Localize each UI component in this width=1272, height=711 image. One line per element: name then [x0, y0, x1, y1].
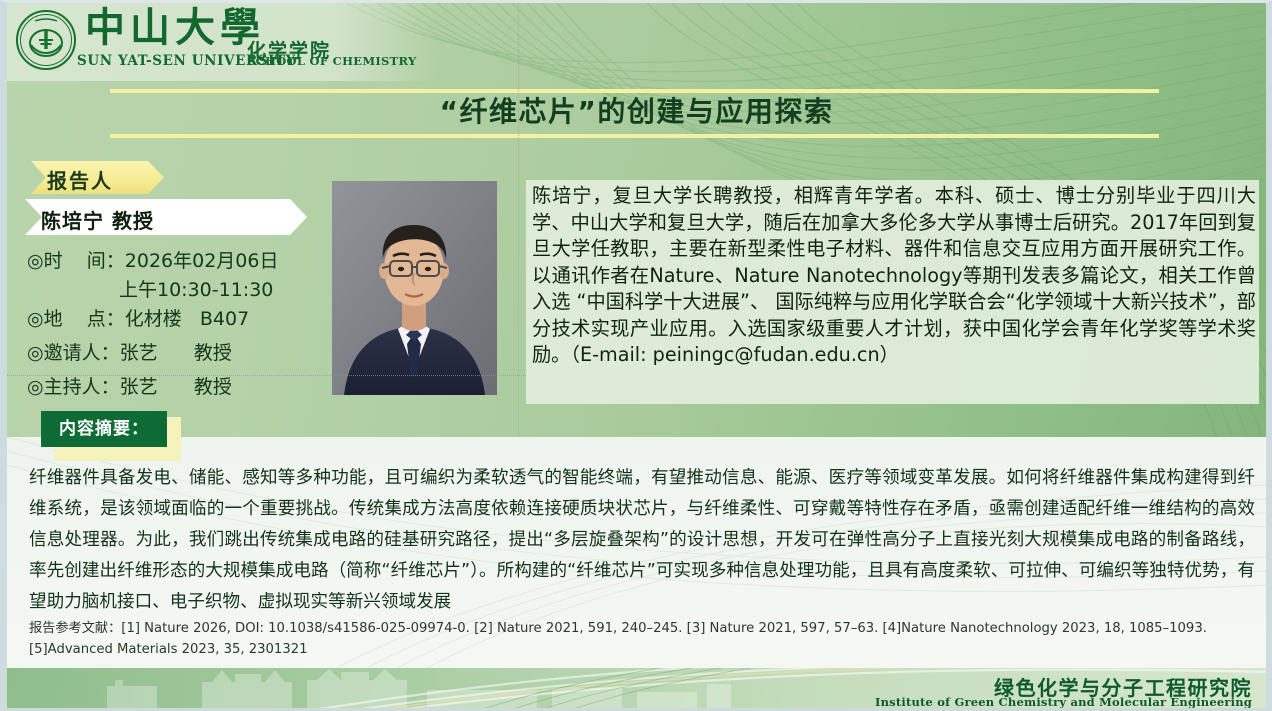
- meta-label-inviter: 邀请人：: [44, 342, 120, 364]
- meta-row-host: ◎主持人：张艺 教授: [27, 373, 327, 402]
- meta-row-inviter: ◎邀请人：张艺 教授: [27, 339, 327, 368]
- meta-value-host: 张艺 教授: [120, 376, 232, 398]
- abstract-body-text: 纤维器件具备发电、储能、感知等多种功能，且可编织为柔软透气的智能终端，有望推动信…: [29, 463, 1255, 618]
- university-name-cn: 中山大學: [85, 5, 265, 51]
- meta-value-time: 2026年02月06日: [125, 250, 279, 272]
- seminar-meta-list: ◎时 间：2026年02月06日 上午10:30-11:30 ◎地 点：化材楼 …: [27, 247, 327, 402]
- meta-bullet-icon: ◎: [27, 250, 44, 272]
- speaker-name-text: 陈培宁 教授: [41, 205, 154, 234]
- speaker-bio-text: 陈培宁，复旦大学长聘教授，相辉青年学者。本科、硕士、博士分别毕业于四川大学、中山…: [532, 183, 1256, 369]
- meta-value-location: 化材楼 B407: [125, 308, 249, 330]
- meta-row-time: ◎时 间：2026年02月06日: [27, 247, 327, 276]
- title-rule-bottom: [110, 134, 1159, 138]
- sun-yat-sen-university-seal-icon: [15, 9, 77, 71]
- seminar-poster: 中山大學 SUN YAT-SEN UNIVERSITY 化学学院 SCHOOL …: [0, 0, 1272, 711]
- speaker-label-text: 报告人: [47, 165, 113, 194]
- speaker-portrait: [332, 181, 497, 395]
- meta-label-location: 地 点：: [44, 308, 125, 330]
- poster-title: “纤维芯片”的创建与应用探索: [7, 93, 1266, 131]
- institute-name-en: Institute of Green Chemistry and Molecul…: [875, 695, 1252, 709]
- meta-bullet-icon-3: ◎: [27, 342, 44, 364]
- meta-value-inviter: 张艺 教授: [120, 342, 232, 364]
- meta-bullet-icon-2: ◎: [27, 308, 44, 330]
- abstract-tag-label: 内容摘要：: [41, 411, 167, 447]
- meta-row-location: ◎地 点：化材楼 B407: [27, 305, 327, 334]
- meta-value-time-second: 上午10:30-11:30: [119, 279, 273, 301]
- university-header: 中山大學 SUN YAT-SEN UNIVERSITY 化学学院 SCHOOL …: [7, 3, 1266, 81]
- meta-bullet-icon-4: ◎: [27, 376, 44, 398]
- meta-label-host: 主持人：: [44, 376, 120, 398]
- school-name-en: SCHOOL OF CHEMISTRY: [247, 54, 417, 68]
- meta-label-time: 时 间：: [44, 250, 125, 272]
- meta-row-time-second: 上午10:30-11:30: [27, 276, 327, 305]
- abstract-references-text: 报告参考文献：[1] Nature 2026, DOI: 10.1038/s41…: [29, 619, 1255, 660]
